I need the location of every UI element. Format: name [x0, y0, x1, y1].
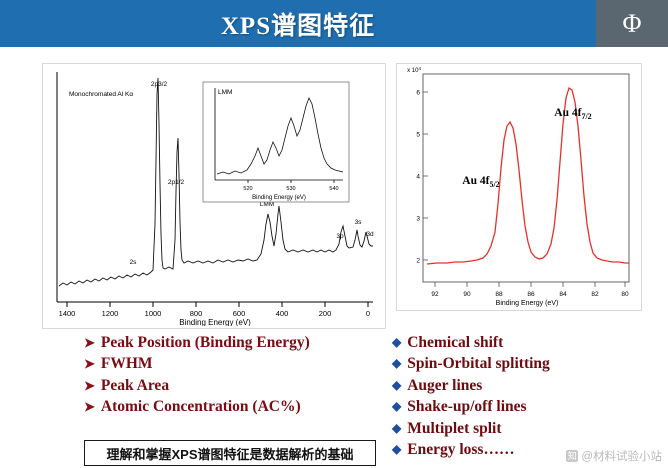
logo-badge: Φ	[596, 0, 668, 47]
x-axis-label: Binding Energy (eV)	[496, 300, 559, 307]
list-item: ➤ Atomic Concentration (AC%)	[84, 397, 384, 417]
source-annotation: Monochromated Al Kα	[69, 91, 133, 98]
survey-spectrum-figure: 1400 1200 1000 800 600 400 200 0 Binding…	[42, 63, 386, 329]
peak-label-2p32: 2p3/2	[151, 81, 168, 88]
list-item-label: Shake-up/off lines	[407, 397, 526, 417]
xtick-800: 800	[190, 309, 203, 318]
xtick-1200: 1200	[102, 309, 119, 318]
ytick-3: 3	[416, 216, 420, 223]
ytick-5: 5	[416, 132, 420, 139]
xtick-82: 82	[591, 291, 599, 298]
list-item: ➤ FWHM	[84, 354, 384, 374]
peak-label-3p: 3p	[336, 233, 344, 240]
x-axis-label: Binding Energy (eV)	[179, 318, 251, 326]
diamond-bullet-icon: ◆	[392, 333, 401, 351]
list-item: ➤ Peak Position (Binding Energy)	[84, 333, 384, 353]
list-item-label: Peak Area	[101, 376, 169, 396]
xtick-84: 84	[559, 291, 567, 298]
xtick-600: 600	[233, 309, 246, 318]
list-item-label: Chemical shift	[407, 333, 503, 353]
list-item: ◆ Spin-Orbital splitting	[392, 354, 668, 374]
peak-label-3d: 3d	[366, 231, 374, 238]
xtick-88: 88	[495, 291, 503, 298]
xtick-0: 0	[366, 309, 370, 318]
au4f-figure: x 104 2 3 4 5 6	[396, 63, 642, 311]
inset-label: LMM	[218, 89, 232, 96]
xtick-86: 86	[527, 291, 535, 298]
arrow-bullet-icon: ➤	[84, 376, 95, 396]
arrow-bullet-icon: ➤	[84, 333, 95, 353]
xtick-1000: 1000	[145, 309, 162, 318]
page-title: XPS谱图特征	[0, 0, 596, 47]
inset-xtick-530: 530	[286, 186, 295, 192]
xtick-80: 80	[621, 291, 629, 298]
list-item-label: Energy loss……	[407, 440, 514, 460]
list-item-label: Multiplet split	[407, 419, 501, 439]
diamond-bullet-icon: ◆	[392, 440, 401, 458]
peak-label-2p12: 2p1/2	[168, 179, 185, 186]
list-item: ◆ Shake-up/off lines	[392, 397, 668, 417]
figures-row: 1400 1200 1000 800 600 400 200 0 Binding…	[0, 55, 668, 330]
xtick-200: 200	[319, 309, 332, 318]
xtick-1400: 1400	[59, 309, 76, 318]
diamond-bullet-icon: ◆	[392, 419, 401, 437]
xtick-400: 400	[276, 309, 289, 318]
slide-header: XPS谱图特征 Φ	[0, 0, 668, 47]
ytick-2: 2	[416, 258, 420, 265]
watermark: 知 @材料试验小站	[566, 448, 662, 464]
bullet-column-right: ◆ Chemical shift ◆ Spin-Orbital splittin…	[392, 333, 668, 462]
list-item: ◆ Multiplet split	[392, 419, 668, 439]
list-item-label: FWHM	[101, 354, 153, 374]
ytick-6: 6	[416, 90, 420, 97]
xtick-90: 90	[463, 291, 471, 298]
ytick-4: 4	[416, 174, 420, 181]
lmm-inset: LMM 520 530 540 Binding Energy (eV)	[203, 82, 349, 202]
list-item: ◆ Chemical shift	[392, 333, 668, 353]
summary-caption: 理解和掌握XPS谱图特征是数据解析的基础	[84, 440, 376, 466]
arrow-bullet-icon: ➤	[84, 354, 95, 374]
inset-xtick-520: 520	[243, 186, 252, 192]
list-item-label: Spin-Orbital splitting	[407, 354, 550, 374]
phi-icon: Φ	[622, 9, 641, 39]
xtick-92: 92	[431, 291, 439, 298]
diamond-bullet-icon: ◆	[392, 354, 401, 372]
survey-spectrum-svg: 1400 1200 1000 800 600 400 200 0 Binding…	[43, 64, 383, 326]
peak-label-3s: 3s	[355, 219, 363, 226]
au4f-svg: x 104 2 3 4 5 6	[397, 64, 639, 308]
list-item-label: Auger lines	[407, 376, 482, 396]
diamond-bullet-icon: ◆	[392, 397, 401, 415]
list-item-label: Peak Position (Binding Energy)	[101, 333, 310, 353]
inset-x-axis-label: Binding Energy (eV)	[252, 195, 306, 201]
zhihu-icon: 知	[566, 450, 578, 462]
diamond-bullet-icon: ◆	[392, 376, 401, 394]
arrow-bullet-icon: ➤	[84, 397, 95, 417]
list-item: ➤ Peak Area	[84, 376, 384, 396]
inset-xtick-540: 540	[329, 186, 338, 192]
list-item: ◆ Auger lines	[392, 376, 668, 396]
bullet-column-left: ➤ Peak Position (Binding Energy) ➤ FWHM …	[84, 333, 384, 419]
peak-label-2s: 2s	[130, 259, 138, 266]
list-item-label: Atomic Concentration (AC%)	[101, 397, 301, 417]
watermark-label: @材料试验小站	[581, 448, 662, 464]
